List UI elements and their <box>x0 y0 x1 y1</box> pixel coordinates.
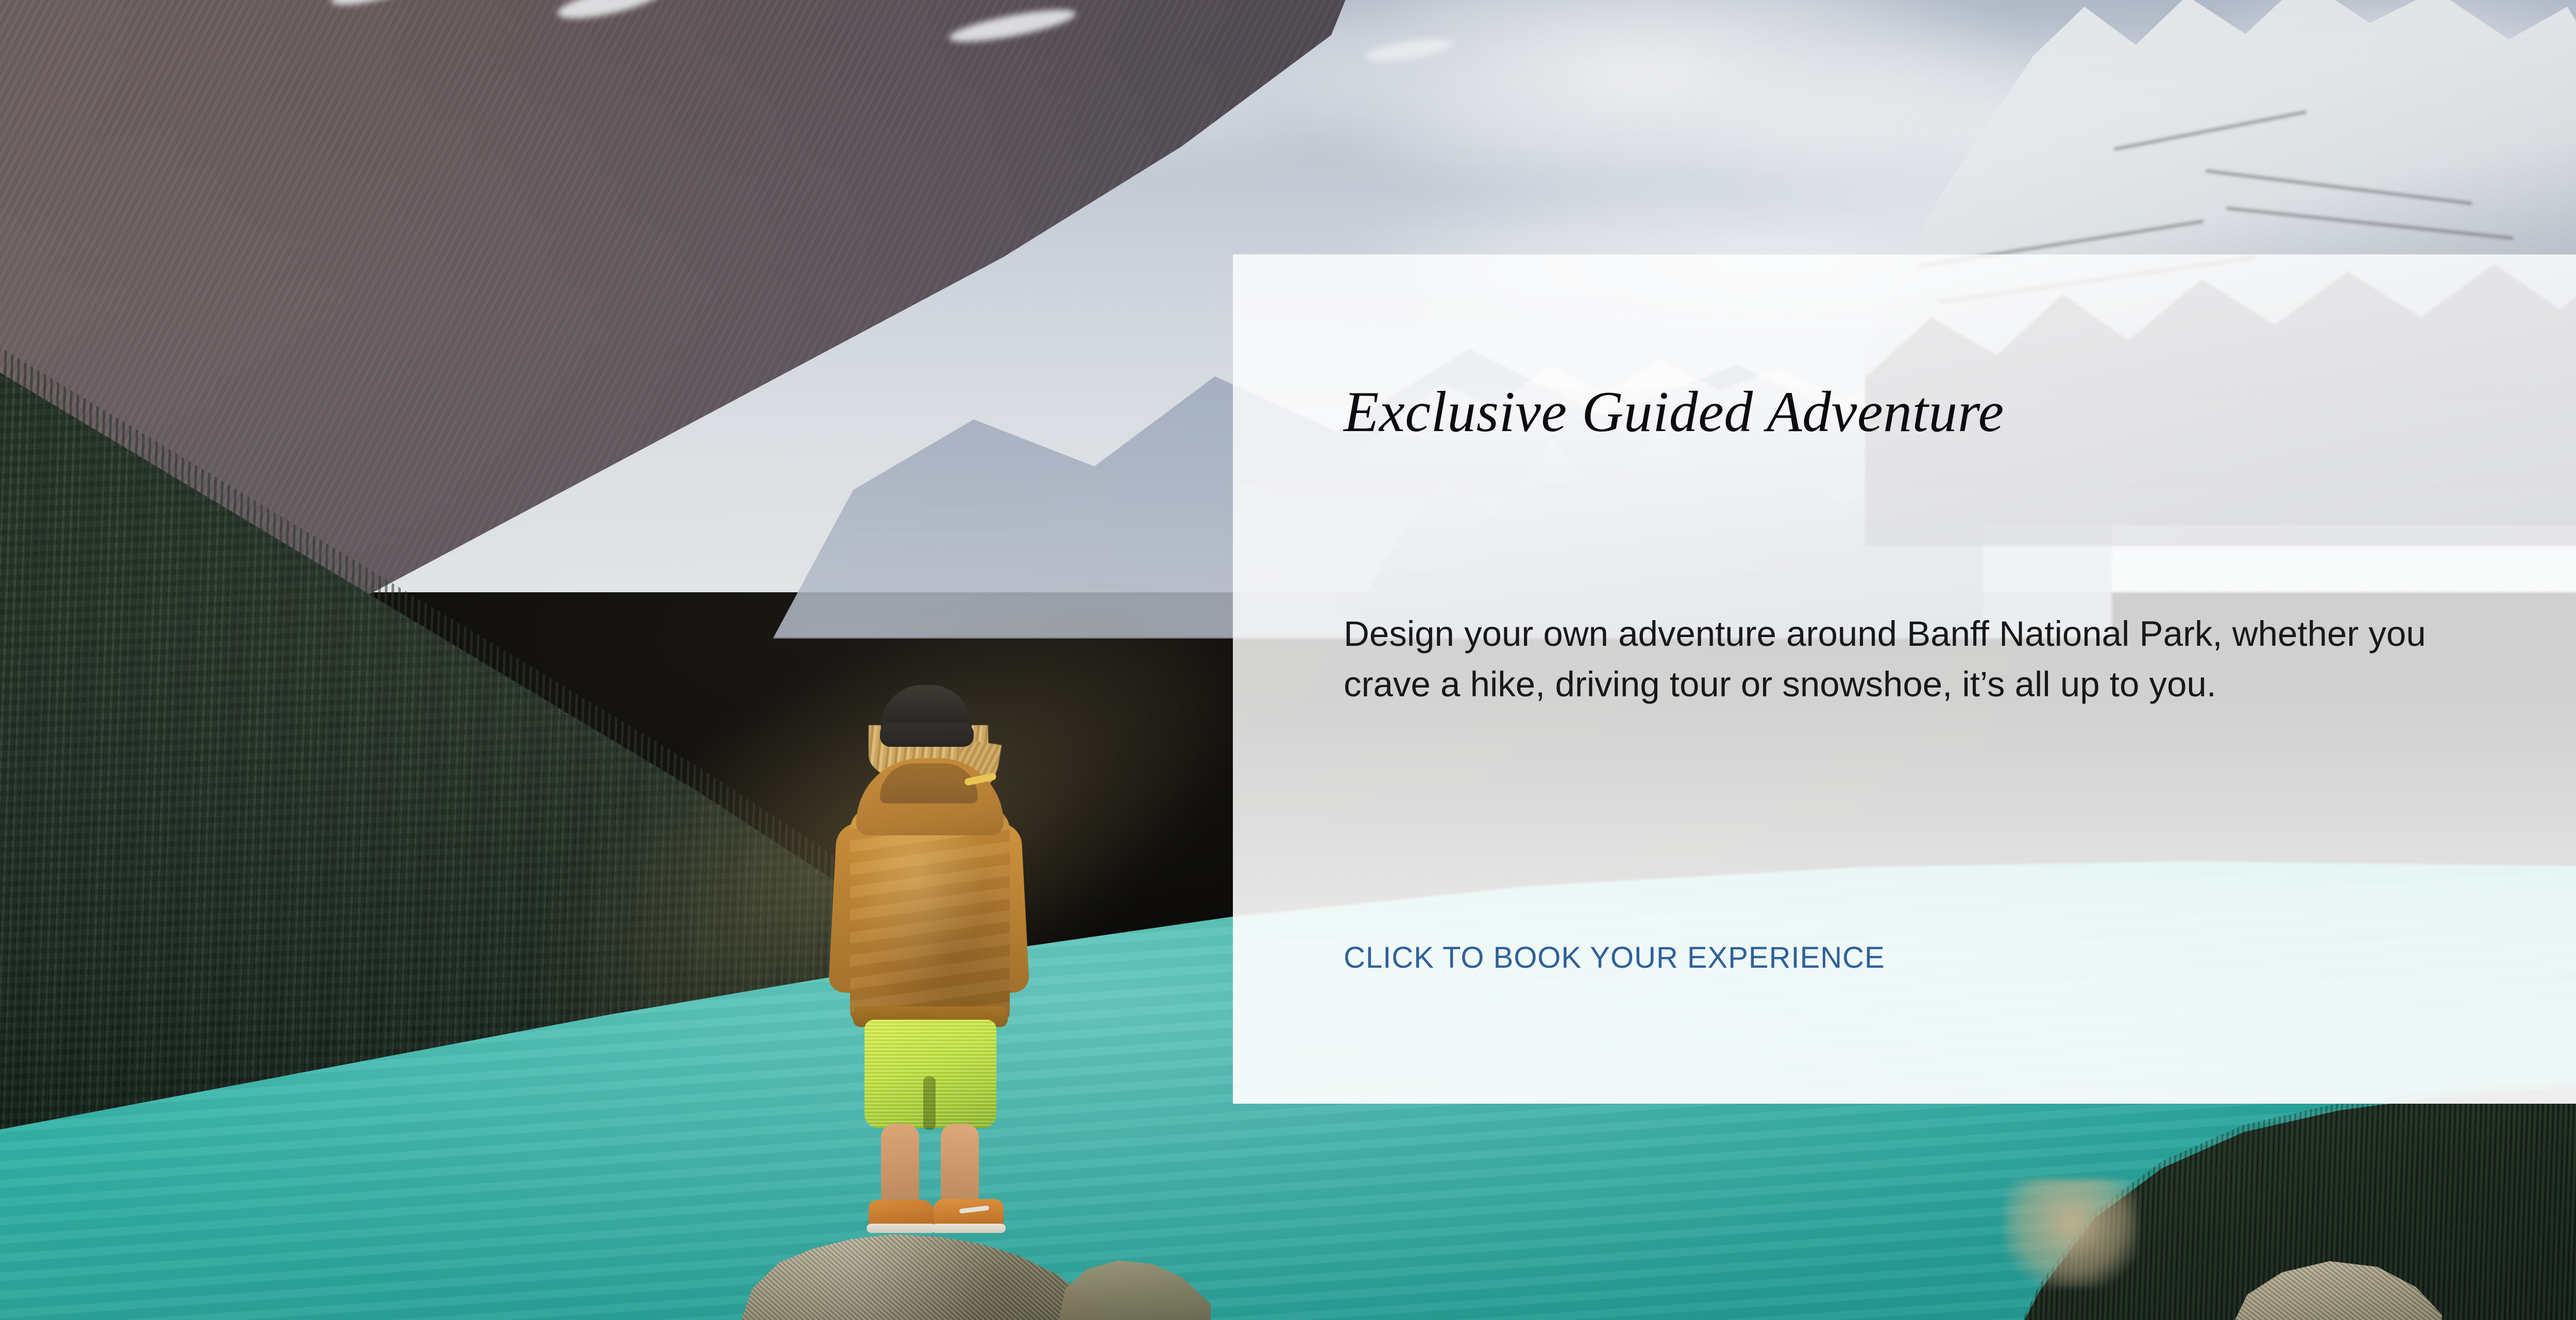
hiker-right-shoe-sole <box>931 1224 1006 1233</box>
hiker-hood-lining <box>880 763 978 803</box>
page-title: Exclusive Guided Adventure <box>1344 382 2004 443</box>
hero-description: Design your own adventure around Banff N… <box>1344 609 2456 710</box>
book-experience-link[interactable]: CLICK TO BOOK YOUR EXPERIENCE <box>1344 940 1885 975</box>
hiker-shorts-split <box>923 1076 936 1130</box>
hiker-figure <box>819 685 1036 1231</box>
hero-banner: Exclusive Guided Adventure Design your o… <box>0 0 2576 1320</box>
hero-content-panel: Exclusive Guided Adventure Design your o… <box>1233 254 2576 1104</box>
hiker-beanie-brim <box>880 723 974 747</box>
right-shoreline-patch <box>2004 1179 2138 1288</box>
hiker-left-shoe-sole <box>867 1224 936 1233</box>
hiker-hoodie-folds <box>850 807 1010 1023</box>
